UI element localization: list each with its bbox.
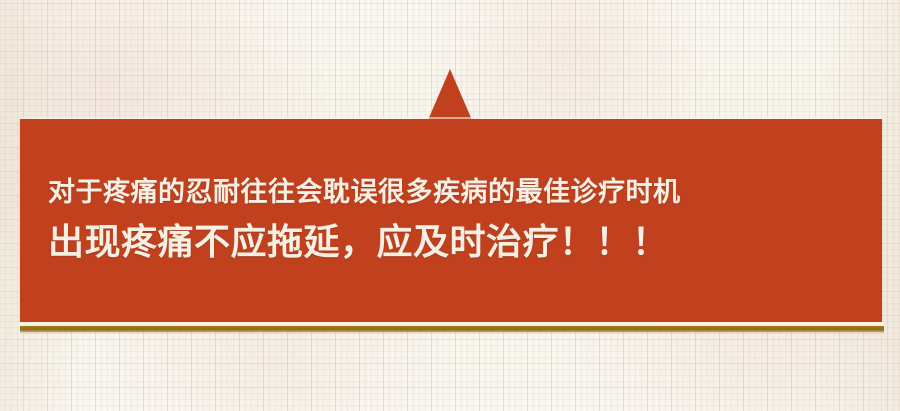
banner-text-block: 对于疼痛的忍耐往往会耽误很多疾病的最佳诊疗时机 出现疼痛不应拖延，应及时治疗！！… xyxy=(48,119,848,322)
headline-primary: 对于疼痛的忍耐往往会耽误很多疾病的最佳诊疗时机 xyxy=(48,179,681,207)
headline-secondary: 出现疼痛不应拖延，应及时治疗！！！ xyxy=(48,224,669,262)
health-warning-poster: 对于疼痛的忍耐往往会耽误很多疾病的最佳诊疗时机 出现疼痛不应拖延，应及时治疗！！… xyxy=(0,0,900,411)
gold-divider-shadow xyxy=(20,332,884,334)
triangle-up-icon xyxy=(428,69,472,120)
